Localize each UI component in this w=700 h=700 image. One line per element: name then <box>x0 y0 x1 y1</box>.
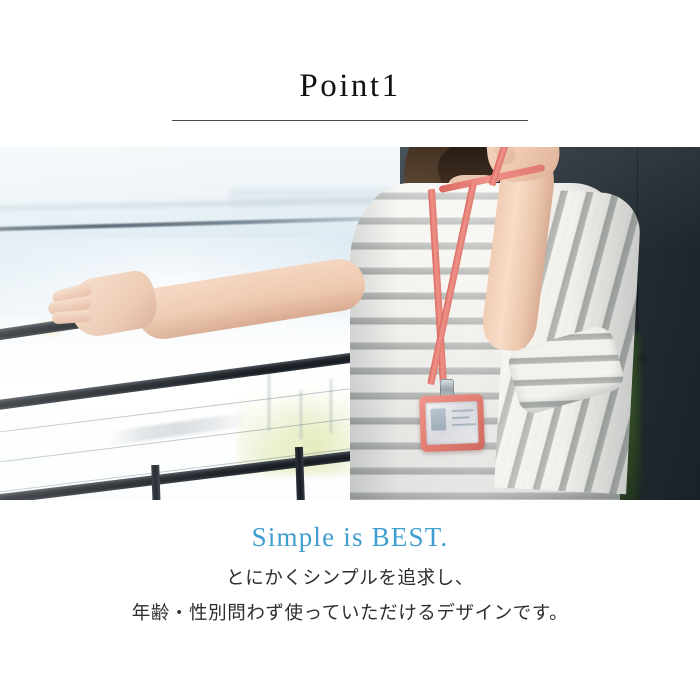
header-section: Point1 <box>0 0 700 147</box>
tagline: Simple is BEST. <box>0 524 700 551</box>
id-card-text-line <box>452 416 470 419</box>
id-card-window <box>425 401 478 445</box>
hero-photo <box>0 147 700 500</box>
person-figure <box>352 147 652 500</box>
photo-canvas <box>0 147 700 500</box>
boat-mast <box>330 379 332 433</box>
description-line-1: とにかくシンプルを追求し、 <box>0 570 700 589</box>
description-line-2: 年齢・性別問わず使っていただけるデザインです。 <box>0 605 700 624</box>
id-card-portrait <box>430 408 446 431</box>
page-root: Point1 <box>0 0 700 700</box>
boat-mast <box>268 369 270 431</box>
id-card-text-line <box>452 409 474 412</box>
id-card-text-line <box>452 423 476 426</box>
boat-mast <box>300 391 302 439</box>
footer-section: Simple is BEST. とにかくシンプルを追求し、 年齢・性別問わず使っ… <box>0 500 700 700</box>
title-divider <box>172 120 528 121</box>
railing-post <box>151 465 161 500</box>
page-title: Point1 <box>0 70 700 103</box>
id-card-holder <box>419 394 485 452</box>
